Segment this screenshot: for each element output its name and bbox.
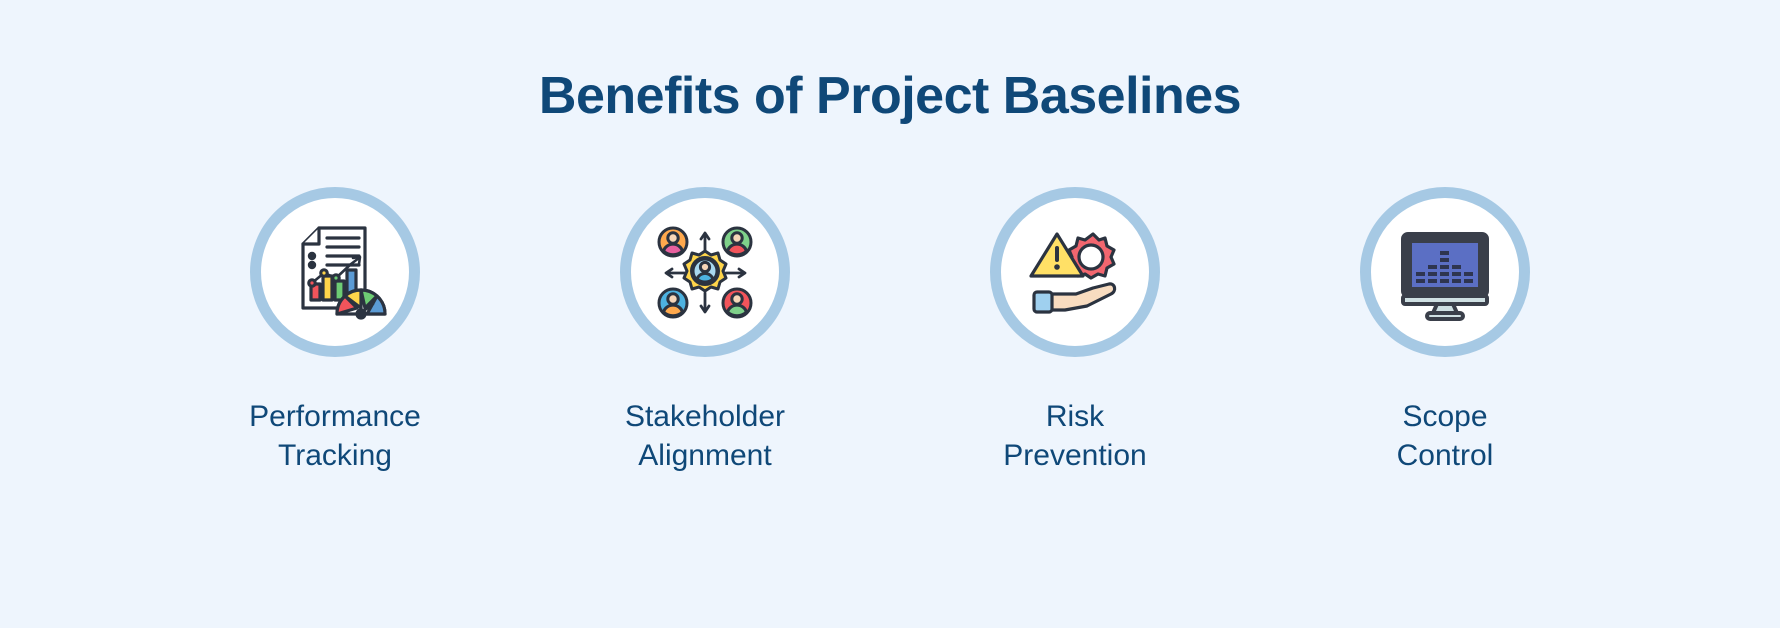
benefit-label-line1: Scope bbox=[1402, 400, 1487, 433]
benefit-label-line2: Control bbox=[1397, 439, 1494, 472]
benefit-label-risk-prevention: Risk Prevention bbox=[1003, 397, 1146, 475]
benefit-card-performance-tracking[interactable]: Performance Tracking bbox=[210, 187, 460, 475]
benefit-label-line1: Performance bbox=[249, 400, 421, 433]
infographic-root: Benefits of Project Baselines bbox=[0, 0, 1780, 628]
document-bar-chart-gauge-icon bbox=[281, 218, 389, 326]
benefit-label-stakeholder-alignment: Stakeholder Alignment bbox=[625, 397, 785, 475]
icon-ring-stakeholder-alignment bbox=[620, 187, 790, 357]
page-title: Benefits of Project Baselines bbox=[539, 68, 1241, 125]
benefit-label-line2: Alignment bbox=[638, 439, 771, 472]
benefit-label-scope-control: Scope Control bbox=[1397, 397, 1494, 475]
benefits-row: Performance Tracking bbox=[210, 187, 1570, 475]
monitor-chart-icon bbox=[1395, 222, 1495, 322]
benefit-label-line2: Prevention bbox=[1003, 439, 1146, 472]
benefit-label-line1: Risk bbox=[1046, 400, 1104, 433]
hand-warning-gear-icon bbox=[1021, 218, 1129, 326]
benefit-label-performance-tracking: Performance Tracking bbox=[249, 397, 421, 475]
benefit-card-scope-control[interactable]: Scope Control bbox=[1320, 187, 1570, 475]
benefit-card-risk-prevention[interactable]: Risk Prevention bbox=[950, 187, 1200, 475]
icon-ring-risk-prevention bbox=[990, 187, 1160, 357]
icon-ring-scope-control bbox=[1360, 187, 1530, 357]
people-gear-alignment-icon bbox=[651, 218, 759, 326]
benefit-label-line2: Tracking bbox=[278, 439, 392, 472]
benefit-label-line1: Stakeholder bbox=[625, 400, 785, 433]
icon-ring-performance-tracking bbox=[250, 187, 420, 357]
benefit-card-stakeholder-alignment[interactable]: Stakeholder Alignment bbox=[580, 187, 830, 475]
